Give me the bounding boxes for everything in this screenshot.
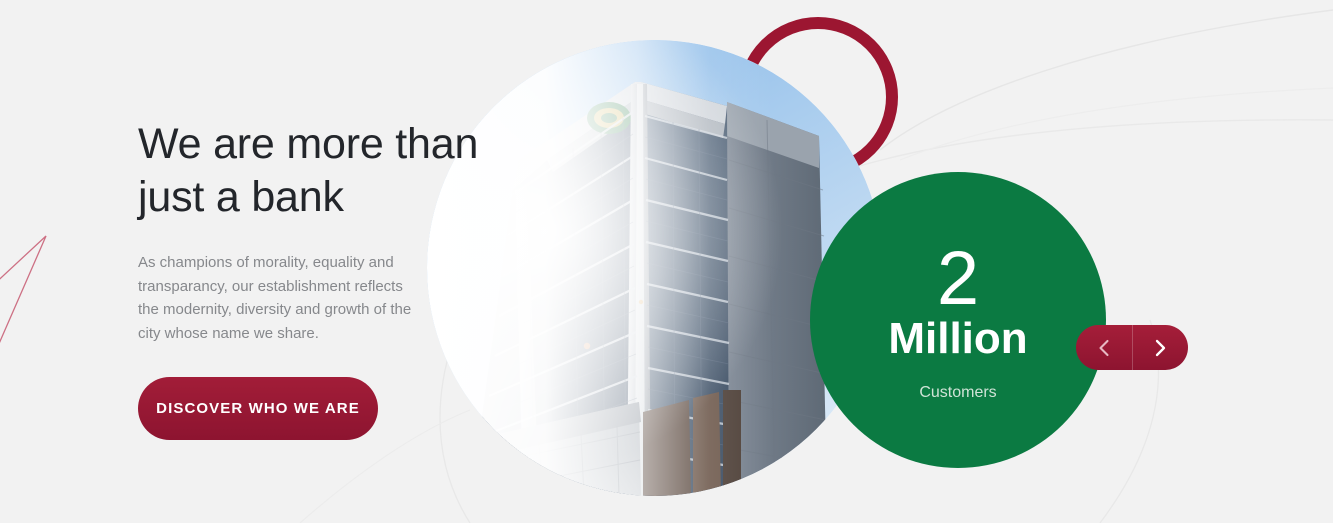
building-photo-circle (427, 40, 883, 496)
hero-copy: We are more than just a bank As champion… (138, 118, 438, 440)
chevron-right-icon (1153, 338, 1167, 358)
chevron-left-icon (1097, 338, 1111, 358)
triangle-outline-decoration (0, 228, 88, 348)
stat-label: Customers (919, 384, 996, 402)
carousel-nav (1076, 325, 1188, 370)
headline-line-2: just a bank (138, 173, 344, 221)
stat-number: 2 (937, 244, 979, 314)
hero-banner: 2 Million Customers We are more than jus… (0, 0, 1333, 523)
headline-line-1: We are more than (138, 120, 478, 168)
stat-unit: Million (888, 316, 1027, 362)
carousel-prev-button[interactable] (1076, 325, 1132, 370)
page-title: We are more than just a bank (138, 118, 438, 224)
discover-who-we-are-button[interactable]: DISCOVER WHO WE ARE (138, 377, 378, 440)
hero-paragraph: As champions of morality, equality and t… (138, 251, 426, 345)
stat-circle: 2 Million Customers (810, 172, 1106, 468)
carousel-next-button[interactable] (1132, 325, 1188, 370)
